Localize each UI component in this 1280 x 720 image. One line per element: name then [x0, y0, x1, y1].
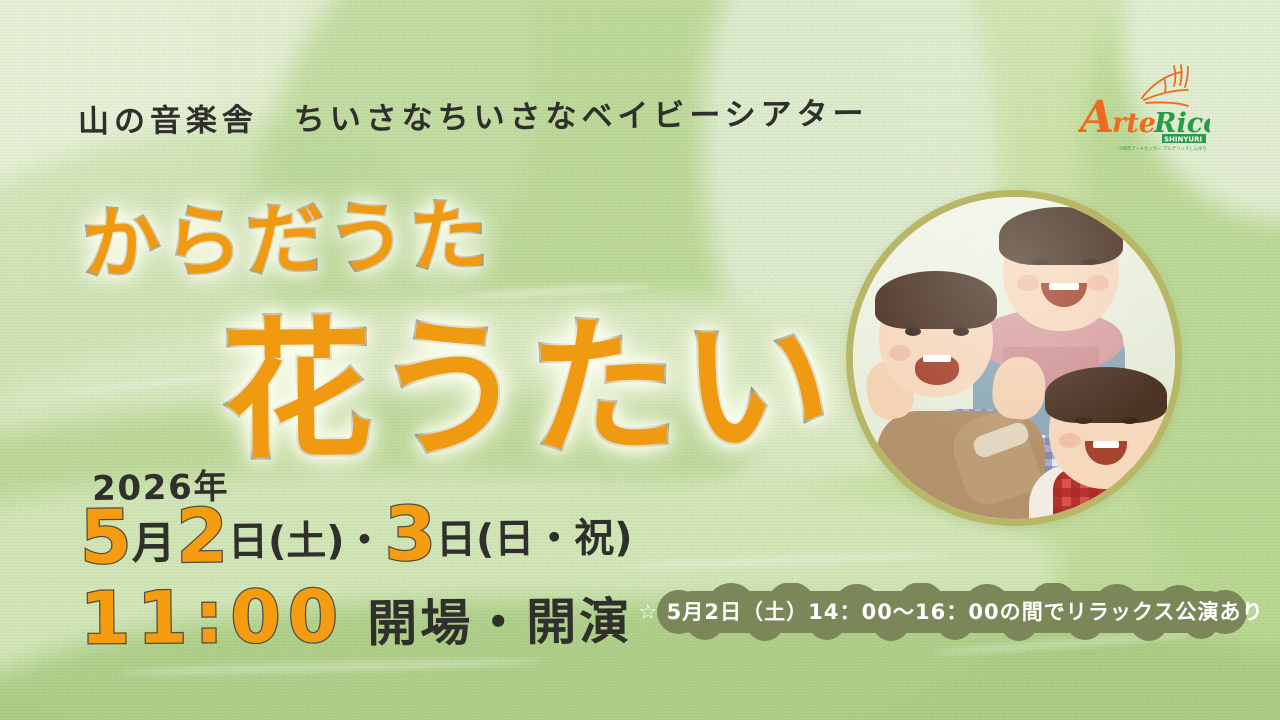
photo-light-overlay: [853, 197, 1175, 519]
arte-ricca-logo[interactable]: A rte Ricca SHINYURI 川崎市アートセンター アルテリッチしん…: [1078, 60, 1210, 152]
month-number: 5: [80, 494, 132, 581]
wheat-sprig-icon: [1142, 65, 1188, 106]
baby-photo: [853, 197, 1175, 519]
time-line: 11:00開場・開演: [80, 578, 633, 659]
day1-number: 2: [176, 493, 228, 580]
time-label: 開場・開演: [367, 593, 632, 653]
start-time: 11:00: [80, 574, 346, 660]
organizer-line: 山の音楽舎 ちいさなちいさなベイビーシアター: [78, 88, 869, 141]
main-title-hanautai: 花うたい: [221, 265, 835, 487]
baby-photo-circle: [846, 190, 1182, 526]
relax-performance-ribbon: ☆ 5月2日（土）14：00〜16：00の間でリラックス公演あり: [645, 583, 1257, 641]
day2-unit: 日: [436, 517, 476, 563]
day2-weekday: (日・祝): [476, 515, 633, 563]
date-line: 5月2日(土)・3日(日・祝): [80, 495, 633, 575]
logo-arte-text: A: [1078, 92, 1114, 143]
logo-rte-text: rte: [1112, 108, 1156, 139]
poster-canvas: 山の音楽舎 ちいさなちいさなベイビーシアター からだうた 花うたい 2026年 …: [0, 0, 1280, 720]
month-unit: 月: [131, 518, 176, 569]
ribbon-text: ☆ 5月2日（土）14：00〜16：00の間でリラックス公演あり: [645, 583, 1257, 641]
logo-shinyuri-text: SHINYURI: [1164, 136, 1202, 144]
day2-number: 3: [384, 491, 436, 578]
date-separator: ・: [344, 518, 384, 564]
day1-unit: 日: [228, 519, 268, 565]
day1-weekday: (土): [268, 518, 345, 565]
logo-tiny-text: 川崎市アートセンター アルテリッチしんゆり: [1118, 145, 1207, 152]
